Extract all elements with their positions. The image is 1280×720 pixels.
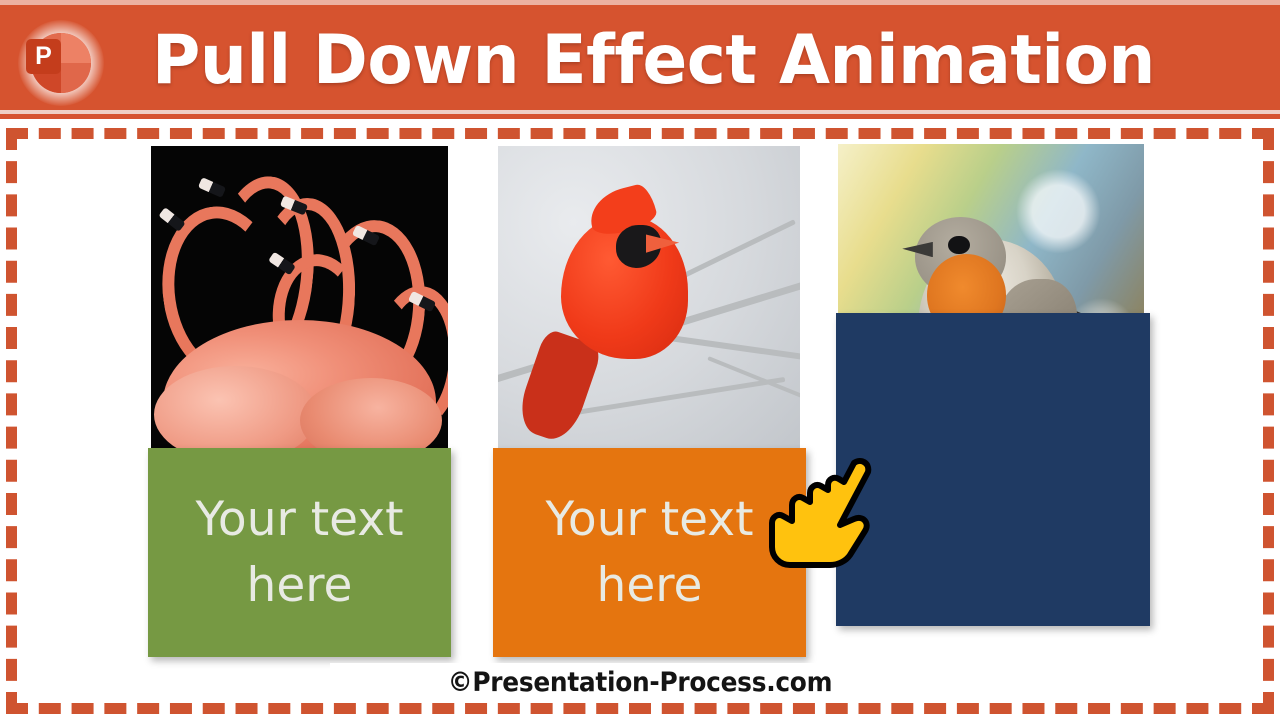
logo-p-letter: P [35,44,52,69]
slide: P Pull Down Effect Animation Your text h… [0,0,1280,720]
card-2-image-cardinal [498,146,800,451]
robin-eye [948,236,969,254]
header-bar: P Pull Down Effect Animation [0,0,1280,119]
logo-quadrant-br [61,63,91,93]
header-bottom-rule [0,110,1280,114]
page-title: Pull Down Effect Animation [152,14,1229,108]
powerpoint-logo: P [18,20,104,106]
card-1-panel-text: Your text here [148,487,451,619]
footer-credit: ©Presentation-Process.com [51,668,1229,698]
hand-pointer-cursor[interactable] [758,449,880,571]
card-3-text-panel[interactable] [836,313,1150,626]
card-1-text-panel[interactable]: Your text here [148,448,451,657]
header-top-highlight [0,0,1280,5]
hand-pointer-icon [758,449,880,571]
logo-p-tile: P [26,39,61,74]
logo-quadrant-tr [61,33,91,63]
card-1-image-flamingos [151,146,448,451]
